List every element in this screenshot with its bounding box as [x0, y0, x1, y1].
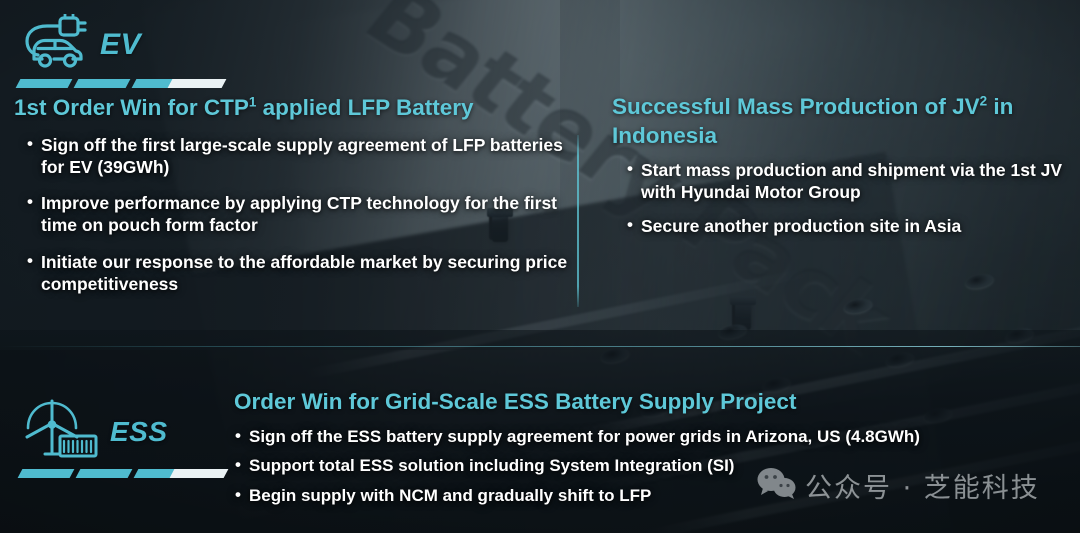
list-item: Secure another production site in Asia — [626, 215, 1068, 237]
jv-bullet-list: Start mass production and shipment via t… — [612, 159, 1068, 238]
list-item: Sign off the first large-scale supply ag… — [26, 134, 574, 178]
list-item: Sign off the ESS battery supply agreemen… — [234, 426, 1064, 448]
ess-heading: Order Win for Grid-Scale ESS Battery Sup… — [234, 388, 1064, 417]
list-item: Initiate our response to the affordable … — [26, 251, 574, 295]
ev-car-plug-icon — [14, 14, 92, 75]
ev-column-jv: Successful Mass Production of JV2 in Ind… — [612, 93, 1068, 249]
ess-bullet-list: Sign off the ESS battery supply agreemen… — [234, 426, 1064, 507]
section-divider — [0, 346, 1080, 347]
section-badge-ev-label: EV — [100, 30, 141, 60]
list-item: Support total ESS solution including Sys… — [234, 455, 1064, 477]
jv-heading-superscript: 2 — [980, 94, 988, 109]
jv-heading: Successful Mass Production of JV2 in Ind… — [612, 93, 1068, 151]
column-divider — [577, 135, 579, 307]
ev-ctp-heading-prefix: 1st Order Win for CTP — [14, 95, 249, 120]
list-item: Improve performance by applying CTP tech… — [26, 192, 574, 236]
ev-ctp-heading-suffix: applied LFP Battery — [256, 95, 473, 120]
badge-accent-bar-ev — [14, 79, 220, 91]
slide-canvas: Battery Pack — [0, 0, 1080, 533]
list-item: Begin supply with NCM and gradually shif… — [234, 485, 1064, 507]
section-badge-ev: EV — [14, 14, 220, 91]
section-badge-ess-label: ESS — [110, 418, 168, 446]
ess-content: Order Win for Grid-Scale ESS Battery Sup… — [234, 388, 1064, 515]
ev-column-ctp: 1st Order Win for CTP1 applied LFP Batte… — [14, 94, 574, 295]
wind-turbine-battery-icon — [16, 398, 102, 465]
ev-ctp-heading: 1st Order Win for CTP1 applied LFP Batte… — [14, 94, 574, 123]
ev-ctp-bullet-list: Sign off the first large-scale supply ag… — [14, 134, 574, 295]
badge-accent-bar-ess — [16, 469, 222, 481]
jv-heading-prefix: Successful Mass Production of JV — [612, 94, 980, 119]
section-badge-ess: ESS — [16, 398, 222, 481]
list-item: Start mass production and shipment via t… — [626, 159, 1068, 203]
